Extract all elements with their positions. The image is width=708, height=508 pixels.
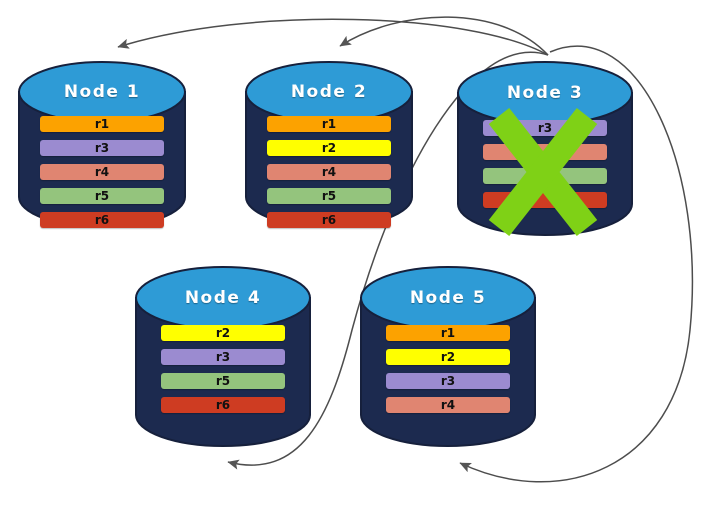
node-2-replica-2-label: r2 xyxy=(267,140,391,156)
node-5-replica-3-label: r3 xyxy=(386,373,510,389)
node-2-replica-3-label: r4 xyxy=(267,164,391,180)
node-5-label: Node 5 xyxy=(358,288,538,308)
arrow-to-node-1 xyxy=(118,19,548,55)
node-4-replica-4-label: r6 xyxy=(161,397,285,413)
node-3-label: Node 3 xyxy=(455,83,635,103)
node-5-replica-4[interactable]: r4 xyxy=(386,397,510,413)
node-2-replica-5-label: r6 xyxy=(267,212,391,228)
node-4-replica-4[interactable]: r6 xyxy=(161,397,285,413)
node-1-replica-4-label: r5 xyxy=(40,188,164,204)
node-2-replica-list: r1r2r4r5r6 xyxy=(243,116,415,236)
node-4-replica-2[interactable]: r3 xyxy=(161,349,285,365)
node-1-replica-5-label: r6 xyxy=(40,212,164,228)
node-4-replica-3-label: r5 xyxy=(161,373,285,389)
node-3-replica-3-label xyxy=(483,168,607,184)
node-3-replica-2-label xyxy=(483,144,607,160)
node-1-replica-3-label: r4 xyxy=(40,164,164,180)
node-3-replica-list: r3 xyxy=(455,120,635,216)
node-1-replica-5[interactable]: r6 xyxy=(40,212,164,228)
node-1-replica-1[interactable]: r1 xyxy=(40,116,164,132)
node-3-replica-4-label xyxy=(483,192,607,208)
node-3-replica-1-label: r3 xyxy=(483,120,607,136)
node-2-label: Node 2 xyxy=(243,82,415,102)
node-1-replica-1-label: r1 xyxy=(40,116,164,132)
node-5-replica-2[interactable]: r2 xyxy=(386,349,510,365)
node-4-label: Node 4 xyxy=(133,288,313,308)
node-1-replica-3[interactable]: r4 xyxy=(40,164,164,180)
node-1-replica-2-label: r3 xyxy=(40,140,164,156)
arrow-to-node-2 xyxy=(340,17,548,55)
node-4-replica-2-label: r3 xyxy=(161,349,285,365)
node-2-replica-5[interactable]: r6 xyxy=(267,212,391,228)
node-5-replica-list: r1r2r3r4 xyxy=(358,325,538,421)
node-4-replica-1[interactable]: r2 xyxy=(161,325,285,341)
node-5-replica-4-label: r4 xyxy=(386,397,510,413)
node-2-replica-4[interactable]: r5 xyxy=(267,188,391,204)
node-5-replica-1[interactable]: r1 xyxy=(386,325,510,341)
node-1-replica-list: r1r3r4r5r6 xyxy=(16,116,188,236)
node-3-replica-2[interactable] xyxy=(483,144,607,160)
node-2-replica-2[interactable]: r2 xyxy=(267,140,391,156)
node-2-replica-4-label: r5 xyxy=(267,188,391,204)
node-5-replica-2-label: r2 xyxy=(386,349,510,365)
replication-diagram: Node 1r1r3r4r5r6Node 2r1r2r4r5r6Node 3r3… xyxy=(0,0,708,508)
node-5[interactable]: Node 5r1r2r3r4 xyxy=(358,263,538,449)
node-5-replica-3[interactable]: r3 xyxy=(386,373,510,389)
node-1-replica-2[interactable]: r3 xyxy=(40,140,164,156)
node-2-replica-1[interactable]: r1 xyxy=(267,116,391,132)
node-5-replica-1-label: r1 xyxy=(386,325,510,341)
node-2-replica-3[interactable]: r4 xyxy=(267,164,391,180)
node-1-replica-4[interactable]: r5 xyxy=(40,188,164,204)
node-3-replica-3[interactable] xyxy=(483,168,607,184)
node-2-replica-1-label: r1 xyxy=(267,116,391,132)
node-3-replica-4[interactable] xyxy=(483,192,607,208)
node-4[interactable]: Node 4r2r3r5r6 xyxy=(133,263,313,449)
node-4-replica-1-label: r2 xyxy=(161,325,285,341)
node-3-replica-1[interactable]: r3 xyxy=(483,120,607,136)
node-1[interactable]: Node 1r1r3r4r5r6 xyxy=(16,58,188,230)
node-3[interactable]: Node 3r3 xyxy=(455,58,635,238)
node-4-replica-list: r2r3r5r6 xyxy=(133,325,313,421)
node-4-replica-3[interactable]: r5 xyxy=(161,373,285,389)
node-1-label: Node 1 xyxy=(16,82,188,102)
node-2[interactable]: Node 2r1r2r4r5r6 xyxy=(243,58,415,230)
